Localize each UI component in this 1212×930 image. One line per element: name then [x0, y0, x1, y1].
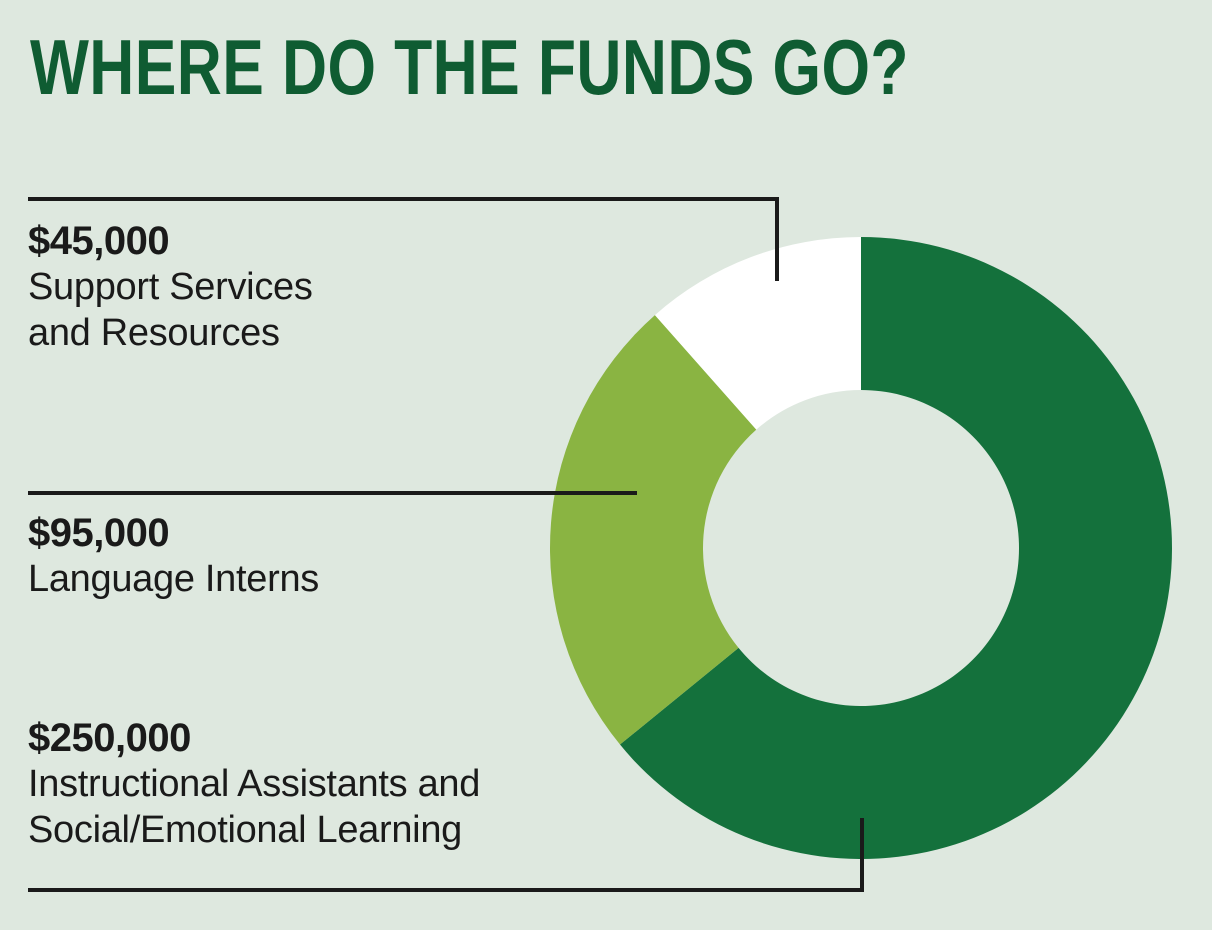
leader-line-support-services-horizontal [28, 197, 779, 201]
leader-line-instructional-assistants-horizontal [28, 888, 864, 892]
callout-instructional-assistants: $250,000 Instructional Assistants and So… [28, 715, 648, 853]
leader-line-language-interns-horizontal [28, 491, 637, 495]
callout-description-support-services: Support Services and Resources [28, 264, 528, 356]
donut-slice-instructional-assistants[interactable] [620, 237, 1172, 859]
callout-amount-instructional-assistants: $250,000 [28, 715, 648, 761]
leader-line-support-services-vertical [775, 197, 779, 281]
donut-slice-support-services[interactable] [655, 237, 861, 430]
callout-description-language-interns: Language Interns [28, 556, 528, 602]
callout-language-interns: $95,000 Language Interns [28, 510, 528, 602]
callout-amount-support-services: $45,000 [28, 218, 528, 264]
page-title: WHERE DO THE FUNDS GO? [30, 25, 718, 109]
callout-support-services: $45,000 Support Services and Resources [28, 218, 528, 356]
donut-slice-language-interns[interactable] [550, 315, 756, 744]
callout-description-instructional-assistants: Instructional Assistants and Social/Emot… [28, 761, 648, 853]
leader-line-instructional-assistants-vertical [860, 818, 864, 892]
callout-amount-language-interns: $95,000 [28, 510, 528, 556]
infographic-canvas: WHERE DO THE FUNDS GO? $45,000 Support S… [0, 0, 1212, 930]
